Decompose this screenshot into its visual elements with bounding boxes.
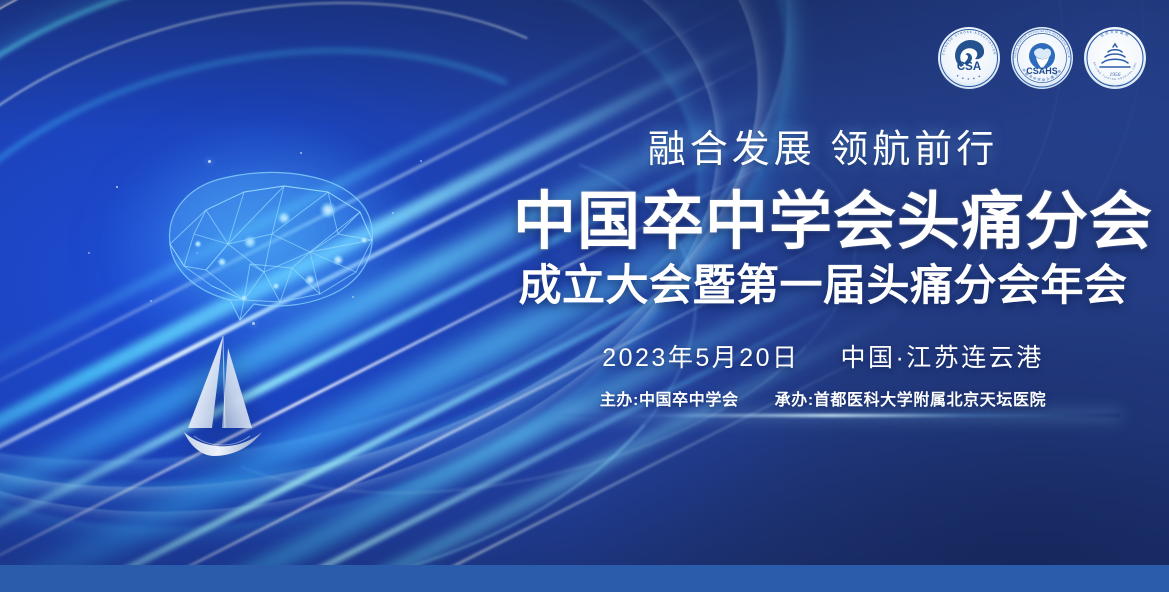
low-poly-brain-graphic xyxy=(132,148,400,338)
banner-text-block: 融合发展 领航前行 中国卒中学会头痛分会 成立大会暨第一届头痛分会年会 2023… xyxy=(513,128,1133,410)
csa-logo: CSA CHINESE STROKE ASSOCIATION ★ ★ ★ ★ ★ xyxy=(937,26,1001,90)
svg-text:1956: 1956 xyxy=(1110,72,1121,78)
organizer-label: 承办:首都医科大学附属北京天坛医院 xyxy=(775,392,1047,409)
conference-banner: CSA CHINESE STROKE ASSOCIATION ★ ★ ★ ★ ★ xyxy=(0,0,1169,592)
event-location: 中国·江苏连云港 xyxy=(840,344,1043,372)
host-label: 主办:中国卒中学会 xyxy=(600,392,739,409)
page-title: 中国卒中学会头痛分会 xyxy=(513,189,1133,256)
event-date-location: 2023年5月20日 中国·江苏连云港 xyxy=(513,338,1133,374)
svg-text:CSAHS: CSAHS xyxy=(1026,66,1058,76)
sailboat-graphic xyxy=(176,332,296,477)
page-subtitle: 成立大会暨第一届头痛分会年会 xyxy=(513,262,1133,310)
tagline-underglow xyxy=(563,414,1121,417)
csahs-logo: CSAHS CHINESE STROKE ASSOCIATION HEADACH… xyxy=(1010,26,1074,90)
event-date: 2023年5月20日 xyxy=(602,344,799,372)
organizers-line: 主办:中国卒中学会 承办:首都医科大学附属北京天坛医院 xyxy=(513,386,1133,410)
beijing-tiantan-hospital-logo: 1956 北京天坛医院 BEIJING TIANTAN HOSPITAL CMU xyxy=(1083,26,1147,90)
svg-text:CSA: CSA xyxy=(957,61,981,73)
sailboat-icon xyxy=(176,332,296,477)
bottom-bar xyxy=(0,565,1169,592)
logo-row: CSA CHINESE STROKE ASSOCIATION ★ ★ ★ ★ ★ xyxy=(937,26,1147,90)
tagline: 融合发展 领航前行 xyxy=(513,128,1133,173)
